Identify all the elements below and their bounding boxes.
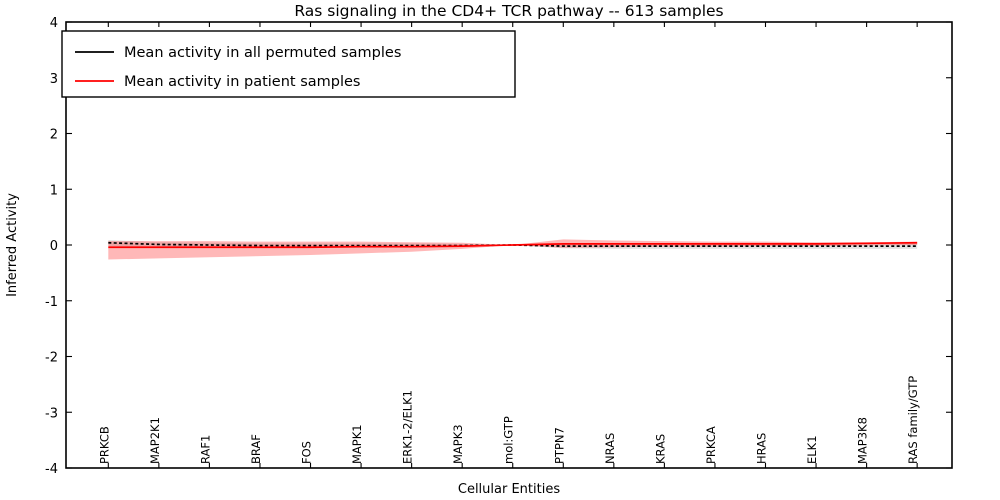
x-tick-label: KRAS — [653, 434, 667, 464]
band-patient — [108, 239, 917, 259]
y-tick-label: 4 — [50, 16, 58, 31]
uncertainty-bands — [108, 239, 917, 259]
legend-label: Mean activity in patient samples — [124, 74, 360, 90]
y-tick-label: 1 — [50, 183, 58, 198]
x-tick-label: NRAS — [603, 433, 617, 464]
y-tick-label: -4 — [45, 462, 58, 477]
chart-title: Ras signaling in the CD4+ TCR pathway --… — [294, 2, 723, 20]
x-tick-label: HRAS — [754, 433, 768, 464]
y-axis-label: Inferred Activity — [5, 193, 20, 297]
chart-plot[interactable]: Ras signaling in the CD4+ TCR pathway --… — [0, 0, 1000, 500]
x-tick-label: MAPK1 — [350, 424, 364, 464]
y-tick-label: -2 — [45, 351, 58, 366]
x-tick-label: MAP2K1 — [148, 417, 162, 464]
x-tick-label: MAP3K8 — [856, 417, 870, 464]
x-tick-label: BRAF — [249, 434, 263, 464]
x-tick-label: PTPN7 — [552, 427, 566, 464]
x-tick-label: mol:GTP — [502, 416, 516, 464]
x-tick-label: FOS — [300, 441, 314, 464]
chart-legend[interactable]: Mean activity in all permuted samplesMea… — [62, 31, 515, 97]
x-tick-label: MAPK3 — [451, 424, 465, 464]
y-tick-label: 3 — [50, 72, 58, 87]
y-tick-label: 2 — [50, 128, 58, 143]
y-tick-label: -1 — [45, 295, 58, 310]
x-tick-label: RAF1 — [198, 435, 212, 464]
x-tick-label: ERK1-2/ELK1 — [401, 390, 415, 464]
x-tick-label: PRKCB — [97, 426, 111, 464]
x-tick-label: ELK1 — [805, 435, 819, 464]
x-tick-label: RAS family/GTP — [906, 376, 920, 464]
figure-canvas: Ras signaling in the CD4+ TCR pathway --… — [0, 0, 1000, 500]
x-tick-label: PRKCA — [704, 426, 718, 464]
x-axis-label: Cellular Entities — [458, 482, 560, 497]
y-tick-label: 0 — [50, 239, 58, 254]
legend-label: Mean activity in all permuted samples — [124, 45, 401, 61]
y-tick-label: -3 — [45, 406, 58, 421]
